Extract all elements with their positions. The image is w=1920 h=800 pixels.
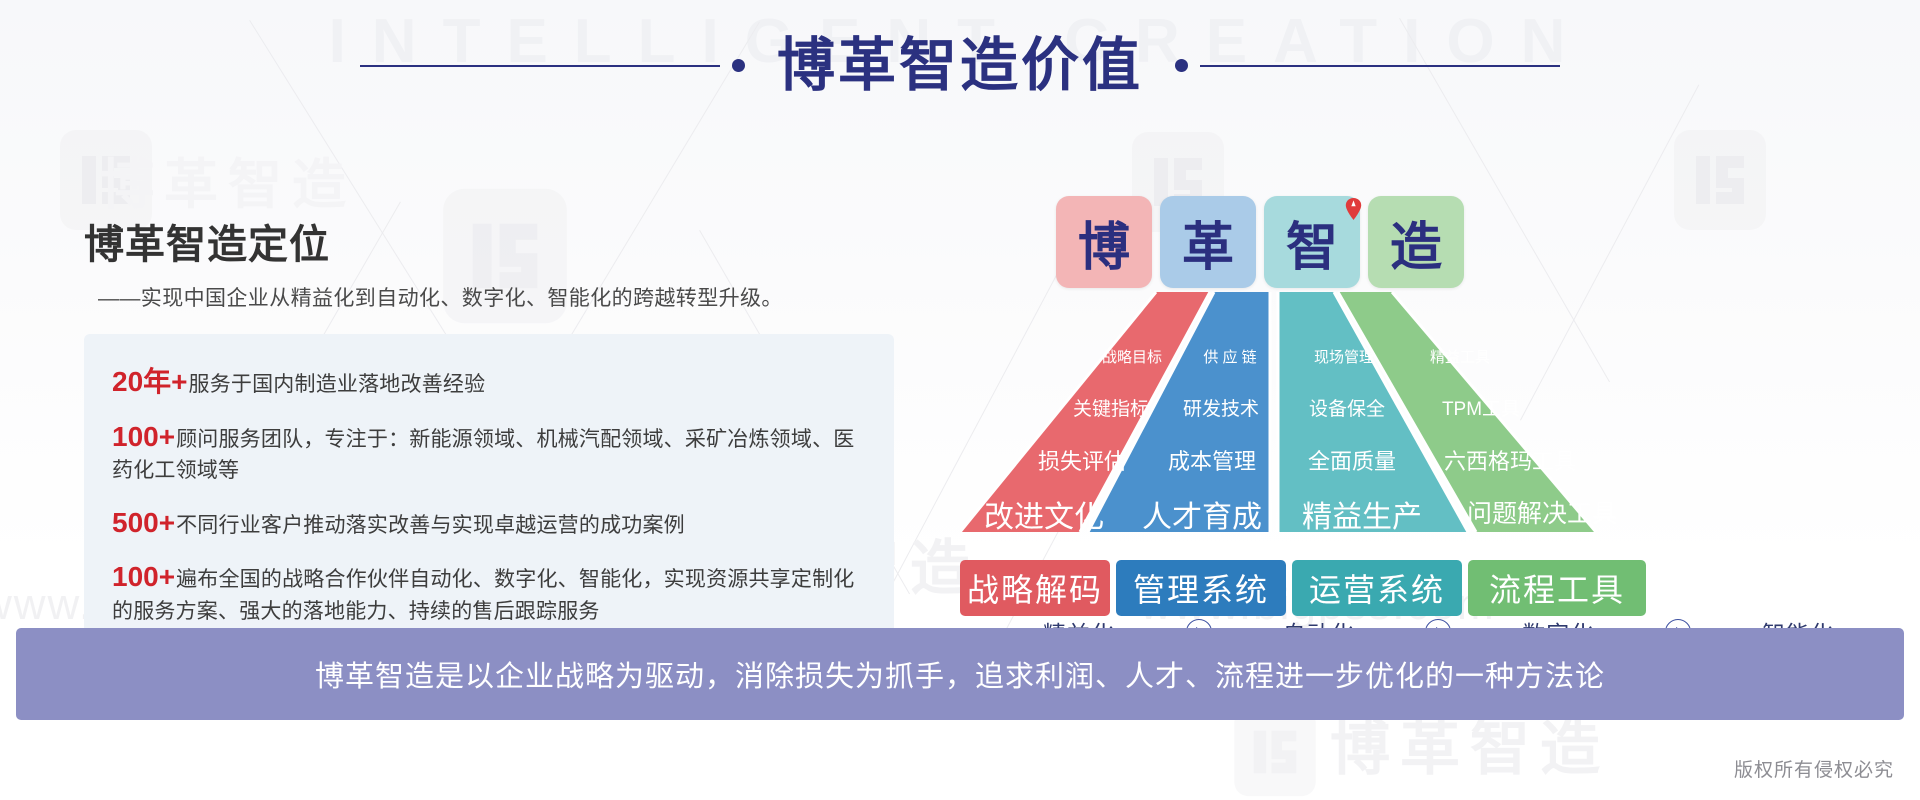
stat-text: 遍布全国的战略合作伙伴自动化、数字化、智能化，实现资源共享定制化的服务方案、强大…: [112, 568, 854, 623]
stat-number: 100+: [112, 421, 175, 452]
stat-row: 100+遍布全国的战略合作伙伴自动化、数字化、智能化，实现资源共享定制化的服务方…: [112, 561, 868, 627]
pyramid-base-label: 流程工具: [1489, 565, 1625, 611]
pyramid-level-label: 研发技术: [1156, 394, 1286, 421]
header-rule-left: [360, 65, 720, 67]
stat-number: 500+: [112, 507, 175, 538]
header-dot-left-icon: [732, 59, 745, 72]
page-header: 博革智造价值: [0, 34, 1920, 98]
poster-root: INTELLIGENT CREATION www.bigpss.com www.…: [0, 0, 1920, 800]
methodology-banner: 博革智造是以企业战略为驱动，消除损失为抓手，追求利润、人才、流程进一步优化的一种…: [16, 628, 1904, 720]
positioning-section: 博革智造定位 ——实现中国企业从精益化到自动化、数字化、智能化的跨越转型升级。 …: [84, 212, 884, 653]
pyramid-base-management: 管理系统: [1116, 560, 1286, 616]
stat-row: 20年+服务于国内制造业落地改善经验: [112, 360, 868, 401]
pyramid-level-label: 损失评估: [1012, 444, 1152, 476]
pyramid-base-label: 战略解码: [967, 565, 1103, 611]
pyramid-base-label: 运营系统: [1309, 565, 1445, 611]
pyramid-diagram: 博 革 智 造: [960, 196, 1860, 616]
pyramid-base-operation: 运营系统: [1292, 560, 1462, 616]
pyramid-level-label: 精益生产: [1282, 492, 1442, 536]
pyramid-base-process: 流程工具: [1468, 560, 1646, 616]
pyramid-level-label: 现场管理: [1284, 346, 1404, 367]
banner-text: 博革智造是以企业战略为驱动，消除损失为抓手，追求利润、人才、流程进一步优化的一种…: [315, 653, 1605, 695]
stats-card: 20年+服务于国内制造业落地改善经验 100+顾问服务团队，专注于：新能源领域、…: [84, 334, 894, 653]
watermark-cn: 博革智造: [100, 140, 356, 219]
stat-text: 不同行业客户推动落实改善与实现卓越运营的成功案例: [176, 514, 685, 537]
stat-number: 20年+: [112, 366, 188, 397]
section-title: 博革智造定位: [84, 212, 884, 270]
pyramid-level-label: 供 应 链: [1170, 346, 1290, 367]
stat-text: 顾问服务团队，专注于：新能源领域、机械汽配领域、采矿冶炼领域、医药化工领域等: [112, 428, 854, 483]
stat-row: 500+不同行业客户推动落实改善与实现卓越运营的成功案例: [112, 507, 868, 542]
section-subtitle: ——实现中国企业从精益化到自动化、数字化、智能化的跨越转型升级。: [84, 282, 884, 312]
pyramid-level-label: 设备保全: [1282, 394, 1412, 421]
page-title: 博革智造价值: [757, 34, 1163, 98]
stat-text: 服务于国内制造业落地改善经验: [189, 373, 486, 396]
pyramid-level-label: 改进文化: [964, 492, 1124, 536]
stat-row: 100+顾问服务团队，专注于：新能源领域、机械汽配领域、采矿冶炼领域、医药化工领…: [112, 421, 868, 487]
pyramid-level-label: 六西格玛工具: [1420, 444, 1600, 476]
pyramid-level-label: 全面质量: [1282, 444, 1422, 476]
pyramid-level-label: 问题解决工具: [1442, 494, 1642, 530]
pyramid-base-strategy: 战略解码: [960, 560, 1110, 616]
pyramid-level-label: 成本管理: [1142, 444, 1282, 476]
copyright-notice: 版权所有侵权必究: [1734, 755, 1894, 782]
header-dot-right-icon: [1175, 59, 1188, 72]
pyramid-level-label: 人才育成: [1122, 492, 1282, 536]
pyramid-base-label: 管理系统: [1133, 565, 1269, 611]
pyramid-level-label: 精益工具: [1400, 346, 1520, 367]
header-rule-right: [1200, 65, 1560, 67]
pyramid-level-label: TPM工具: [1416, 394, 1546, 421]
stat-number: 100+: [112, 561, 175, 592]
